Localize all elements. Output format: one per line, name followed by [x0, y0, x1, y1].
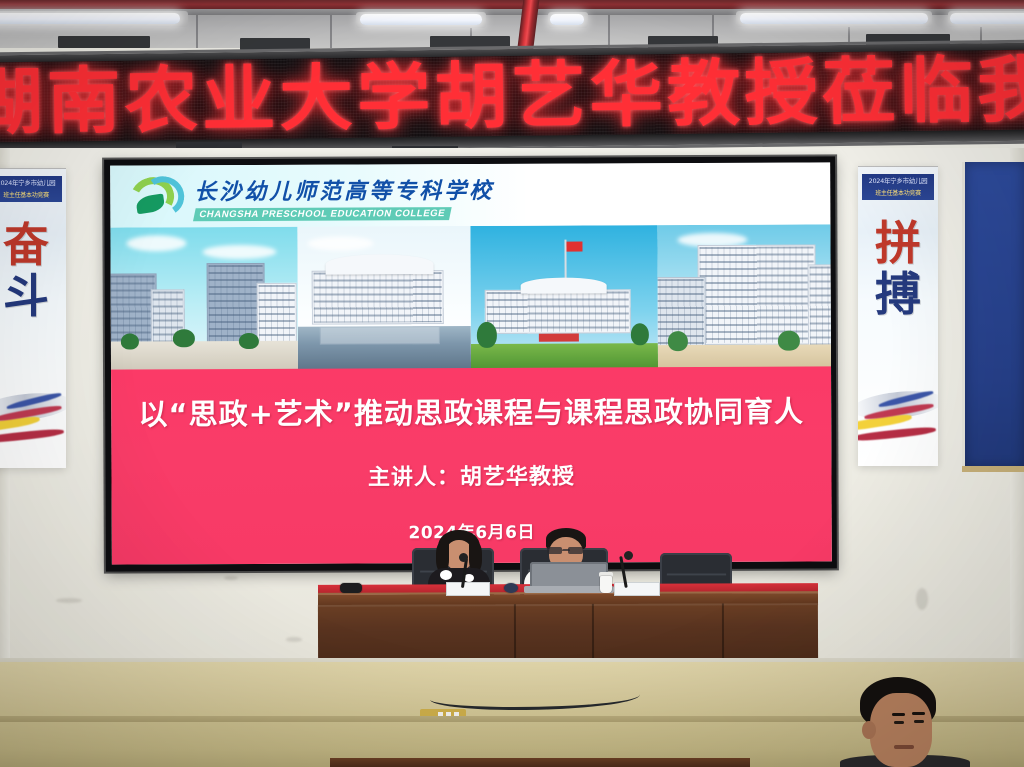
- campus-photo-strip: [110, 224, 831, 371]
- college-name-english: CHANGSHA PRESCHOOL EDUCATION COLLEGE: [193, 207, 451, 221]
- ceiling-light-5: [950, 13, 1024, 24]
- projection-screen-frame: 长沙幼儿师范高等专科学校 CHANGSHA PRESCHOOL EDUCATIO…: [104, 156, 837, 571]
- front-row-bench: [330, 758, 750, 767]
- wall-scuff: [286, 637, 302, 642]
- desk-object-dark: [340, 583, 362, 593]
- microphone-head-left: [459, 553, 468, 562]
- wall-scuff: [224, 576, 238, 580]
- right-blue-board: [962, 162, 1024, 468]
- led-banner-text: 湖南农业大学胡艺华教授莅临我: [0, 53, 1024, 138]
- namecard-left: [446, 582, 490, 596]
- banner-rod: [0, 168, 66, 169]
- wall-scuff: [916, 588, 928, 610]
- ceiling-light-3: [550, 14, 584, 25]
- slide-speaker: 主讲人：胡艺华教授: [111, 457, 831, 492]
- wall-scuff: [56, 598, 82, 603]
- presentation-slide: 长沙幼儿师范高等专科学校 CHANGSHA PRESCHOOL EDUCATIO…: [110, 162, 832, 564]
- slide-title: 以“思政+艺术”推动思政课程与课程思政协同育人: [111, 388, 831, 433]
- campus-photo-2: [298, 226, 471, 371]
- banner-right-char-1: 拼: [858, 218, 938, 268]
- conference-table-front: [318, 603, 818, 663]
- banner-left-header-line2: 班主任基本功竞赛: [3, 192, 49, 199]
- microphone-head-right: [624, 551, 633, 560]
- hanging-banner-left: 2024年宁乡市幼儿园 班主任基本功竞赛 奋 斗: [0, 168, 66, 468]
- banner-left-char-2: 斗: [0, 270, 66, 322]
- water-cup: [600, 576, 612, 593]
- banner-right-char-2: 搏: [858, 268, 938, 320]
- right-blue-board-trim: [962, 466, 1024, 472]
- desk-object-blue: [504, 583, 518, 593]
- college-name-chinese: 长沙幼儿师范高等专科学校: [194, 172, 494, 205]
- banner-ribbon: [0, 390, 66, 460]
- led-scrolling-banner: 湖南农业大学胡艺华教授莅临我: [0, 40, 1024, 157]
- campus-photo-1: [110, 227, 298, 372]
- banner-right-characters: 拼 搏: [858, 218, 938, 320]
- banner-ribbon: [858, 388, 938, 458]
- college-logo-text: 长沙幼儿师范高等专科学校 CHANGSHA PRESCHOOL EDUCATIO…: [194, 172, 494, 220]
- banner-right-header-line2: 班主任基本功竞赛: [875, 190, 921, 197]
- banner-left-char-1: 奋: [0, 220, 66, 270]
- lecture-hall-scene: 湖南农业大学胡艺华教授莅临我 2024年宁乡市幼儿园 班主任基本功竞赛 奋 斗: [0, 0, 1024, 767]
- slide-logo-band: 长沙幼儿师范高等专科学校 CHANGSHA PRESCHOOL EDUCATIO…: [110, 162, 830, 229]
- hanging-banner-right: 2024年宁乡市幼儿园 班主任基本功竞赛 拼 搏: [858, 166, 938, 466]
- ceiling-light-2: [360, 14, 482, 25]
- led-banner-screen: 湖南农业大学胡艺华教授莅临我: [0, 50, 1024, 143]
- audience-member: [850, 677, 946, 767]
- ceiling-light-1: [0, 13, 180, 24]
- banner-left-header-line1: 2024年宁乡市幼儿园: [0, 179, 55, 187]
- namecard-right: [614, 582, 660, 596]
- banner-right-header-line1: 2024年宁乡市幼儿园: [869, 177, 928, 185]
- banner-rod: [858, 166, 938, 167]
- banner-left-header: 2024年宁乡市幼儿园 班主任基本功竞赛: [0, 176, 62, 202]
- laptop-lid: [530, 562, 608, 588]
- ceiling-vent: [58, 36, 150, 48]
- campus-photo-3: [470, 225, 658, 370]
- banner-right-header: 2024年宁乡市幼儿园 班主任基本功竞赛: [862, 174, 934, 200]
- campus-photo-4: [658, 224, 831, 369]
- college-logo-icon: [128, 175, 186, 219]
- ceiling-light-4: [740, 13, 928, 24]
- banner-left-characters: 奋 斗: [0, 220, 66, 322]
